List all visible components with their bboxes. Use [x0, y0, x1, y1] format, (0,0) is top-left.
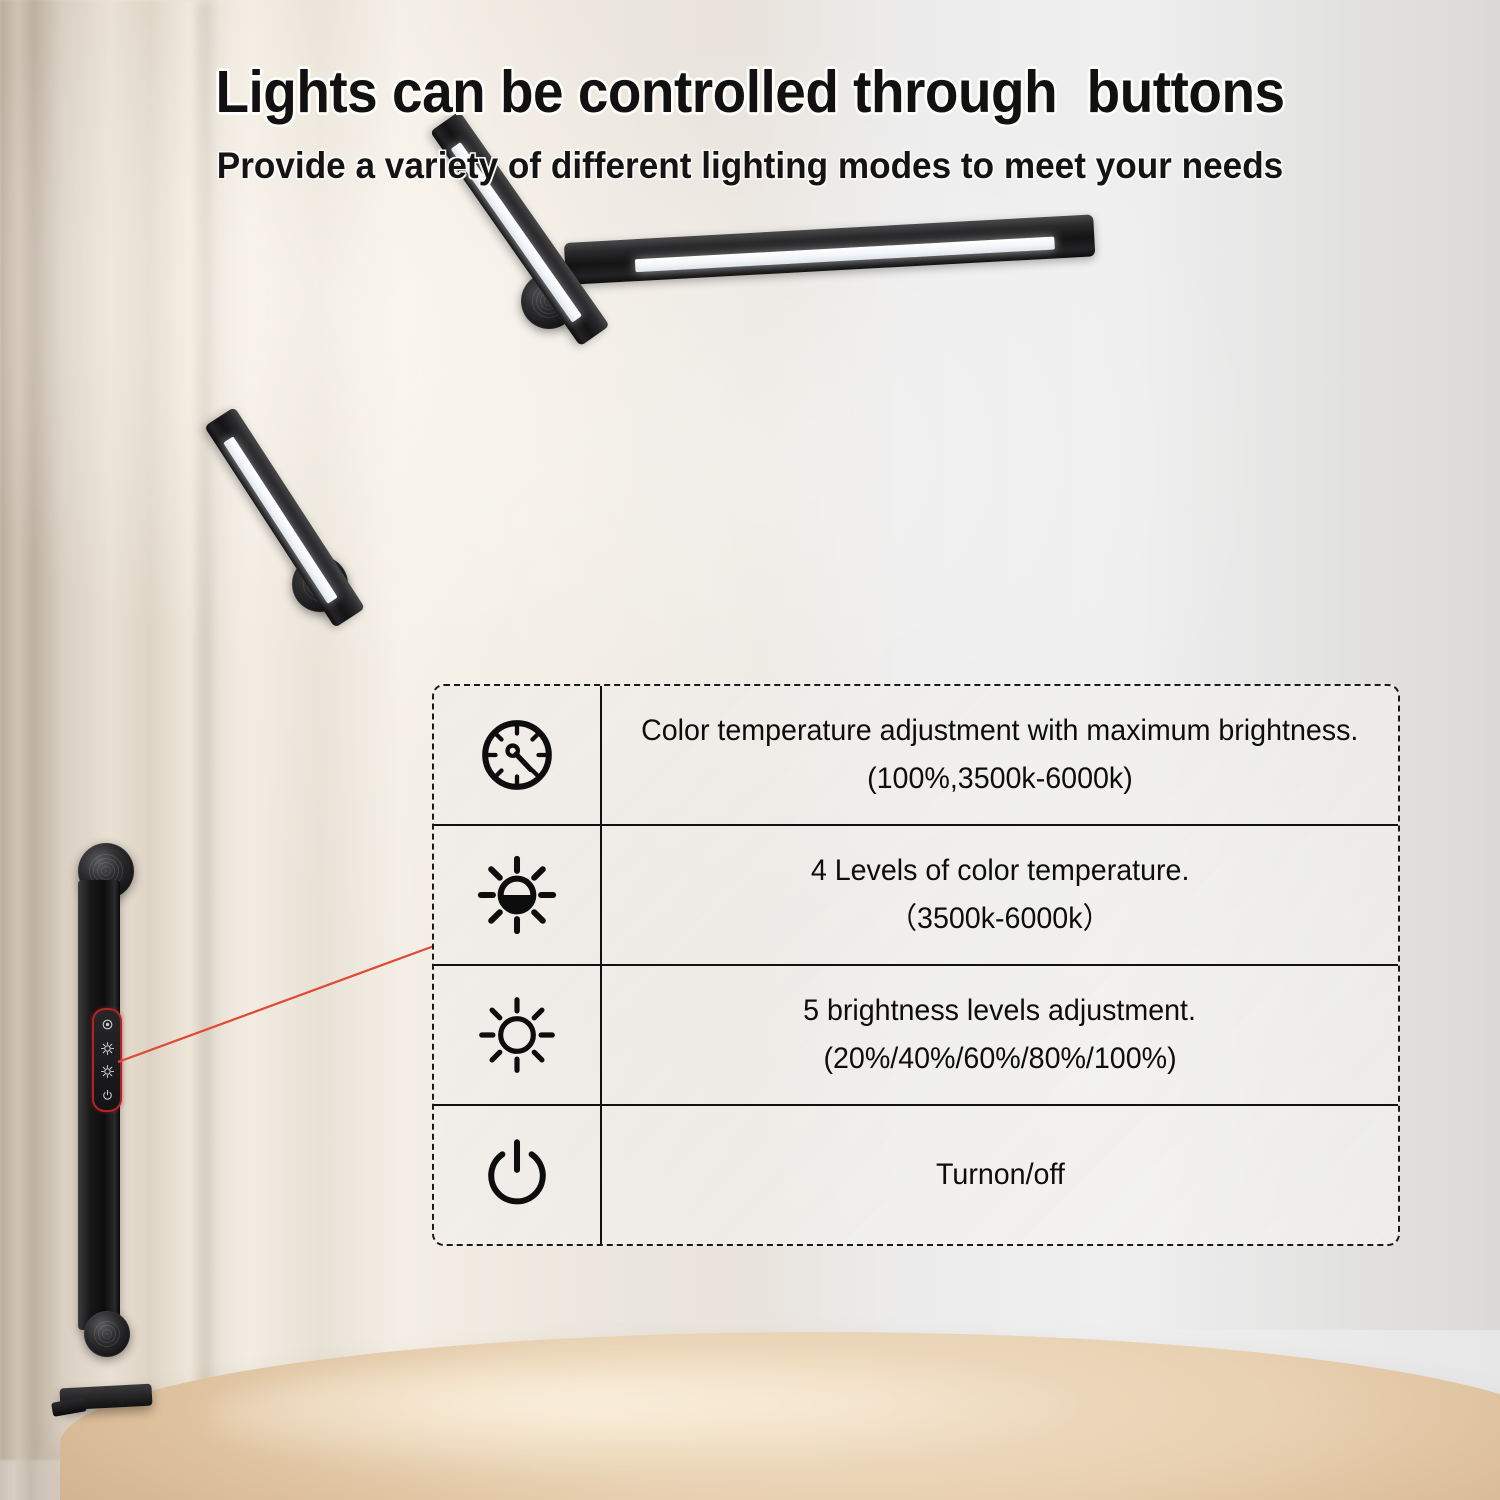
table-row: Color temperature adjustment with maximu… — [434, 686, 1398, 826]
feature-line-primary: 4 Levels of color temperature. — [811, 847, 1190, 895]
brightness-button[interactable] — [101, 1065, 114, 1078]
feature-line-secondary: （3500k-6000k） — [889, 895, 1112, 943]
power-icon — [474, 1132, 560, 1218]
feature-table: Color temperature adjustment with maximu… — [432, 684, 1400, 1246]
feature-text-cell: Color temperature adjustment with maximu… — [602, 686, 1398, 824]
table-row: 4 Levels of color temperature. （3500k-60… — [434, 826, 1398, 966]
feature-line-secondary: (100%,3500k-6000k) — [867, 755, 1133, 803]
lamp-arm-lower-led — [223, 436, 338, 604]
lamp-head — [564, 214, 1095, 285]
lamp-button-panel[interactable] — [92, 1008, 122, 1112]
product-infographic: Lights can be controlled through buttons… — [0, 0, 1500, 1500]
page-title: Lights can be controlled through buttons — [53, 58, 1448, 126]
page-subtitle: Provide a variety of different lighting … — [38, 145, 1463, 187]
lamp-arm-lower — [204, 407, 365, 628]
table-row: 5 brightness levels adjustment. (20%/40%… — [434, 966, 1398, 1106]
sun-brightness-icon — [474, 992, 560, 1078]
feature-icon-cell — [434, 686, 602, 824]
feature-icon-cell — [434, 826, 602, 964]
feature-line-primary: Turnon/off — [936, 1151, 1065, 1199]
feature-text-cell: 4 Levels of color temperature. （3500k-60… — [602, 826, 1398, 964]
feature-line-primary: Color temperature adjustment with maximu… — [641, 707, 1358, 755]
feature-line-secondary: (20%/40%/60%/80%/100%) — [823, 1035, 1176, 1083]
feature-text-cell: 5 brightness levels adjustment. (20%/40%… — [602, 966, 1398, 1104]
feature-line-primary: 5 brightness levels adjustment. — [804, 987, 1197, 1035]
color-temperature-dial-button[interactable] — [101, 1018, 114, 1031]
half-filled-sun-icon — [474, 852, 560, 938]
table-row: Turnon/off — [434, 1106, 1398, 1244]
feature-text-cell: Turnon/off — [602, 1106, 1398, 1244]
lamp-joint-base[interactable] — [84, 1311, 130, 1357]
feature-icon-cell — [434, 1106, 602, 1244]
lamp-head-led — [635, 237, 1055, 273]
power-button[interactable] — [101, 1089, 114, 1102]
lamp-clamp-lip — [51, 1397, 87, 1417]
feature-icon-cell — [434, 966, 602, 1104]
color-temperature-button[interactable] — [101, 1042, 114, 1055]
color-temperature-dial-icon — [474, 712, 560, 798]
